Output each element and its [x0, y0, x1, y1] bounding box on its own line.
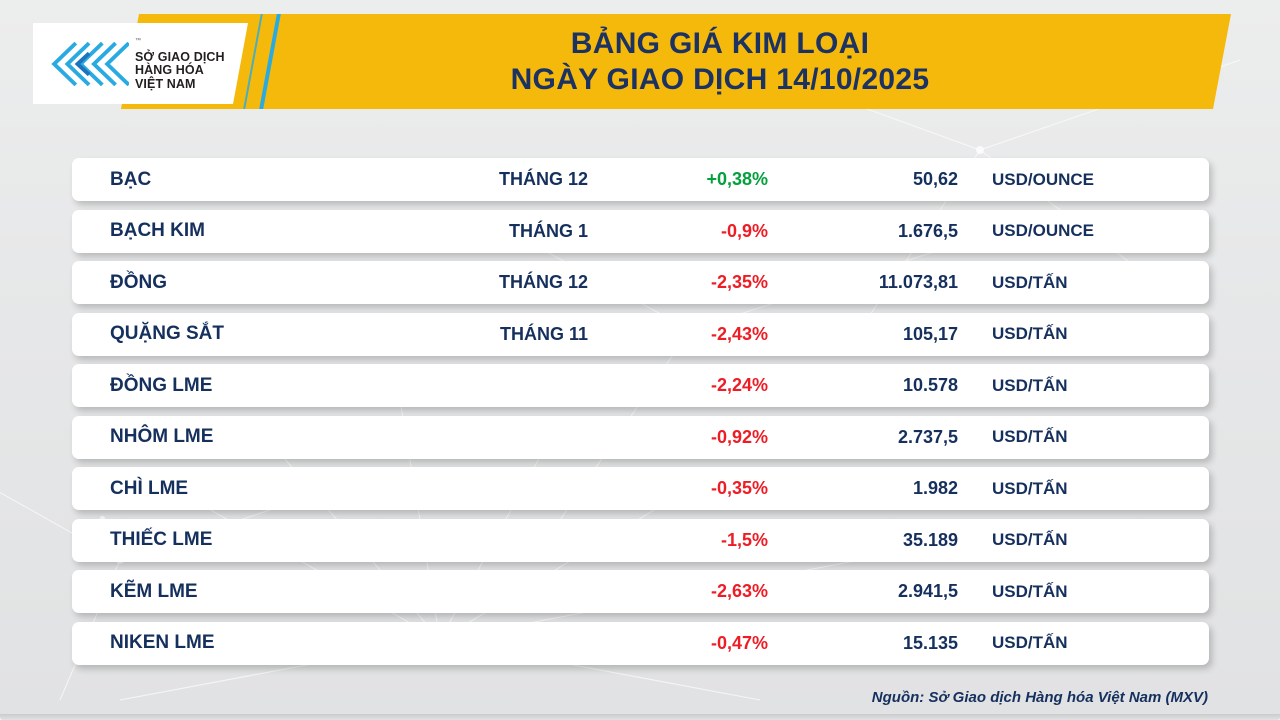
page-title: BẢNG GIÁ KIM LOẠI NGÀY GIAO DỊCH 14/10/2… — [340, 20, 1100, 104]
contract-month: THÁNG 12 — [372, 169, 602, 190]
commodity-name: CHÌ LME — [72, 478, 372, 500]
price-value: 35.189 — [782, 530, 972, 551]
commodity-name: KẼM LME — [72, 581, 372, 603]
table-row[interactable]: NHÔM LME -0,92% 2.737,5 USD/TẤN — [72, 416, 1209, 459]
change-percent: +0,38% — [602, 169, 782, 190]
table-row[interactable]: KẼM LME -2,63% 2.941,5 USD/TẤN — [72, 570, 1209, 613]
table-row[interactable]: ĐỒNG LME -2,24% 10.578 USD/TẤN — [72, 364, 1209, 407]
logo-line-2: HÀNG HÓA — [135, 64, 225, 78]
price-value: 50,62 — [782, 169, 972, 190]
logo-wordmark: ™ SỞ GIAO DỊCH HÀNG HÓA VIỆT NAM — [135, 35, 225, 91]
contract-month: THÁNG 1 — [372, 221, 602, 242]
commodity-name: ĐỒNG LME — [72, 375, 372, 397]
table-row[interactable]: NIKEN LME -0,47% 15.135 USD/TẤN — [72, 622, 1209, 665]
source-note: Nguồn: Sở Giao dịch Hàng hóa Việt Nam (M… — [872, 689, 1208, 706]
change-percent: -0,35% — [602, 478, 782, 499]
table-row[interactable]: BẠCH KIM THÁNG 1 -0,9% 1.676,5 USD/OUNCE — [72, 210, 1209, 253]
change-percent: -0,47% — [602, 633, 782, 654]
contract-month: THÁNG 11 — [372, 324, 602, 345]
price-unit: USD/TẤN — [972, 633, 1202, 653]
logo-card: ™ SỞ GIAO DỊCH HÀNG HÓA VIỆT NAM — [33, 23, 248, 104]
title-line-2: NGÀY GIAO DỊCH 14/10/2025 — [511, 62, 930, 98]
table-row[interactable]: ĐỒNG THÁNG 12 -2,35% 11.073,81 USD/TẤN — [72, 261, 1209, 304]
price-unit: USD/TẤN — [972, 273, 1202, 293]
commodity-name: BẠCH KIM — [72, 220, 372, 242]
commodity-name: BẠC — [72, 169, 372, 191]
price-unit: USD/OUNCE — [972, 170, 1202, 190]
price-unit: USD/TẤN — [972, 376, 1202, 396]
price-value: 105,17 — [782, 324, 972, 345]
change-percent: -2,35% — [602, 272, 782, 293]
price-value: 2.737,5 — [782, 427, 972, 448]
title-line-1: BẢNG GIÁ KIM LOẠI — [571, 26, 869, 62]
commodity-name: NHÔM LME — [72, 426, 372, 448]
price-unit: USD/TẤN — [972, 427, 1202, 447]
header-banner: ™ SỞ GIAO DỊCH HÀNG HÓA VIỆT NAM BẢNG GI… — [0, 14, 1280, 109]
price-value: 1.676,5 — [782, 221, 972, 242]
commodity-name: ĐỒNG — [72, 272, 372, 294]
change-percent: -0,9% — [602, 221, 782, 242]
bottom-divider — [0, 714, 1280, 720]
change-percent: -2,24% — [602, 375, 782, 396]
mxv-chevron-logo-icon — [51, 42, 129, 86]
price-unit: USD/TẤN — [972, 324, 1202, 344]
price-unit: USD/TẤN — [972, 582, 1202, 602]
price-value: 10.578 — [782, 375, 972, 396]
price-value: 15.135 — [782, 633, 972, 654]
logo-trademark: ™ — [135, 38, 141, 44]
contract-month: THÁNG 12 — [372, 272, 602, 293]
table-row[interactable]: QUẶNG SẮT THÁNG 11 -2,43% 105,17 USD/TẤN — [72, 313, 1209, 356]
table-row[interactable]: THIẾC LME -1,5% 35.189 USD/TẤN — [72, 519, 1209, 562]
change-percent: -1,5% — [602, 530, 782, 551]
page-background: ™ SỞ GIAO DỊCH HÀNG HÓA VIỆT NAM BẢNG GI… — [0, 0, 1280, 720]
change-percent: -2,43% — [602, 324, 782, 345]
price-value: 11.073,81 — [782, 272, 972, 293]
commodity-name: THIẾC LME — [72, 529, 372, 551]
table-row[interactable]: CHÌ LME -0,35% 1.982 USD/TẤN — [72, 467, 1209, 510]
change-percent: -0,92% — [602, 427, 782, 448]
price-value: 1.982 — [782, 478, 972, 499]
price-unit: USD/TẤN — [972, 479, 1202, 499]
price-unit: USD/OUNCE — [972, 221, 1202, 241]
change-percent: -2,63% — [602, 581, 782, 602]
price-unit: USD/TẤN — [972, 530, 1202, 550]
table-row[interactable]: BẠC THÁNG 12 +0,38% 50,62 USD/OUNCE — [72, 158, 1209, 201]
price-table: BẠC THÁNG 12 +0,38% 50,62 USD/OUNCE BẠCH… — [0, 158, 1280, 673]
price-value: 2.941,5 — [782, 581, 972, 602]
commodity-name: QUẶNG SẮT — [72, 323, 372, 345]
logo-line-3: VIỆT NAM — [135, 78, 225, 92]
commodity-name: NIKEN LME — [72, 632, 372, 654]
